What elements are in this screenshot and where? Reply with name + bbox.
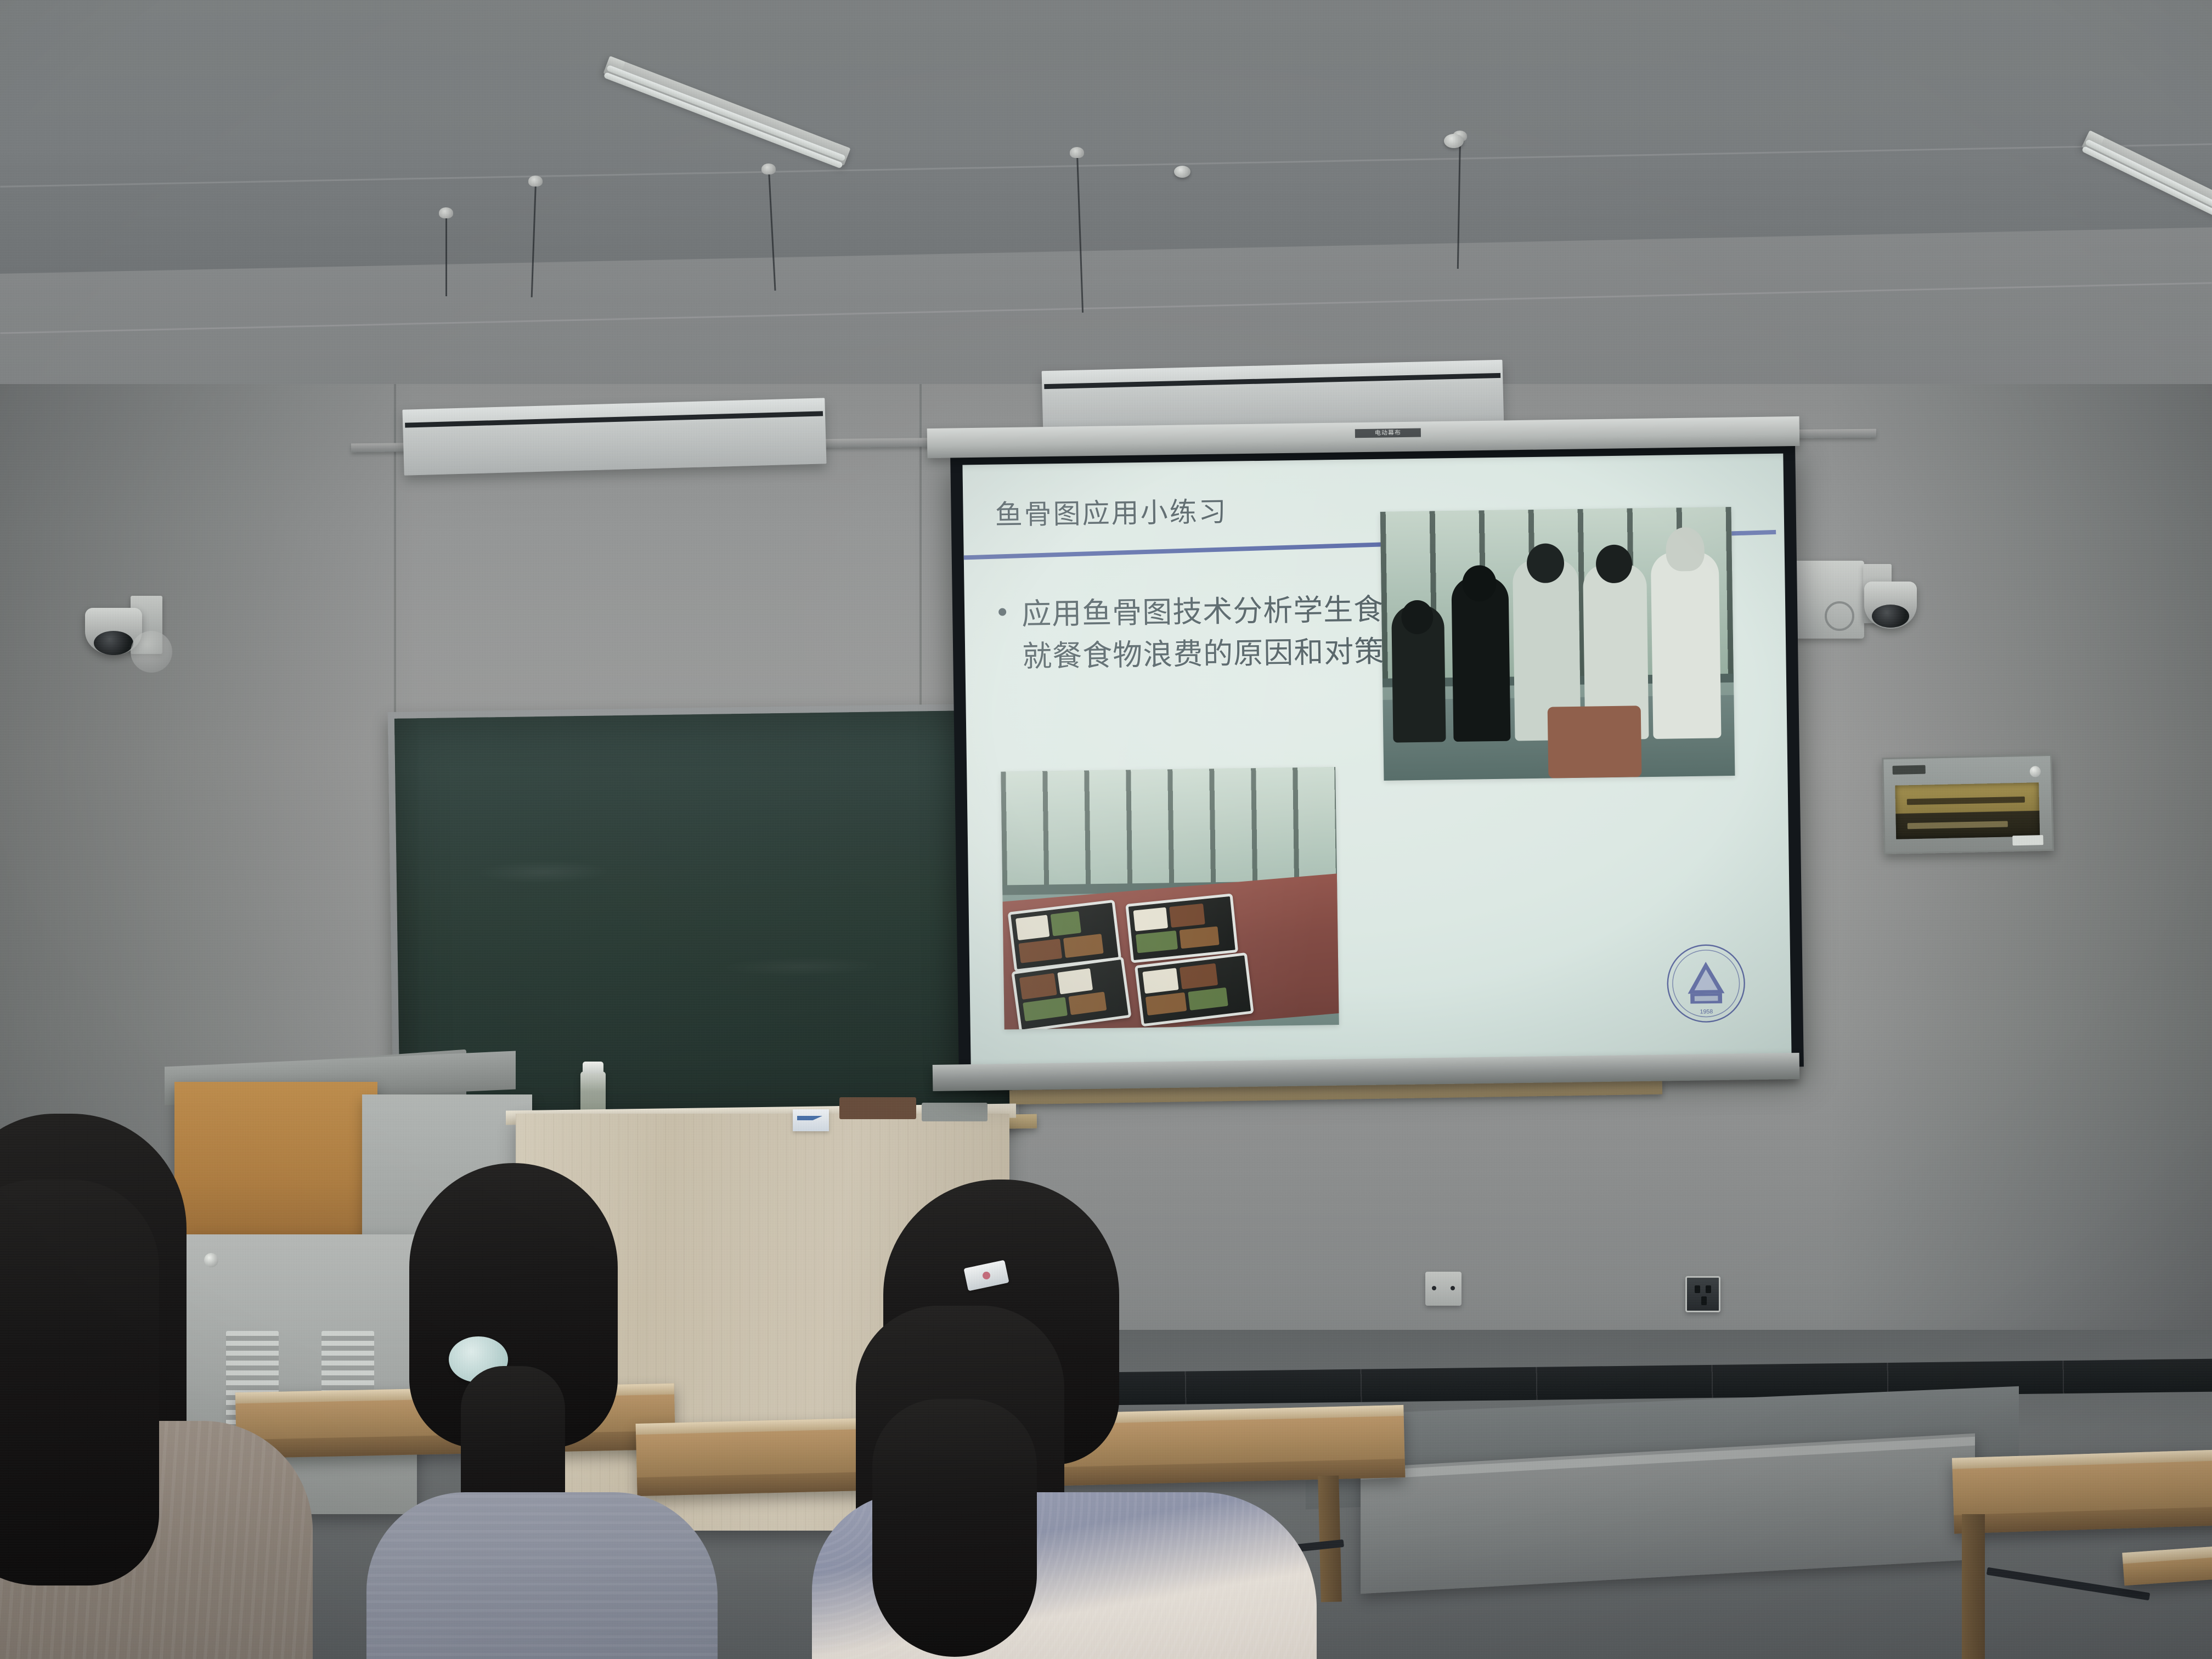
projection-screen-surface: 鱼骨图应用小练习 应用鱼骨图技术分析学生食堂就餐食物浪费的原因和对策 [962,454,1791,1066]
photo-person-head [1666,527,1705,572]
student-1 [0,1114,351,1659]
hanger-cap-2 [528,176,543,187]
valance-slot [405,411,823,427]
security-camera-right [1864,582,1917,629]
student-2 [379,1163,752,1659]
screw-hole [1451,1286,1455,1290]
bullet-dot-icon [998,608,1006,616]
valance-left [402,398,826,475]
slide-bullet-text: 应用鱼骨图技术分析学生食堂就餐食物浪费的原因和对策 [1022,588,1444,678]
wall-control-box-right [1793,561,1864,639]
light-hanger-wire-1 [445,214,447,296]
university-logo: 1958 [1664,941,1748,1026]
socket-slot [1706,1285,1711,1293]
notice-screw-icon [2030,766,2041,777]
projection-screen: 鱼骨图应用小练习 应用鱼骨图技术分析学生食堂就餐食物浪费的原因和对策 [950,441,1804,1078]
wall-notice-board [1882,754,2054,854]
slide-photo-trays [1001,767,1339,1029]
blue-card-on-podium[interactable] [793,1109,829,1131]
wall-outlet-blank[interactable] [1425,1272,1462,1306]
photo-counter-item [1548,706,1642,778]
notice-text-line [1907,797,2025,805]
photo-person [1651,552,1722,740]
valance-slot [1044,373,1500,389]
desk-far-right [1952,1447,2212,1533]
food-tray [1125,893,1238,963]
classroom-photo: 电动幕布 鱼骨图应用小练习 应用鱼骨图技术分析学生食堂就餐食物浪费的原因和对策 [0,0,2212,1659]
screw-hole [1432,1286,1436,1290]
wall-shadow-right [1828,384,2212,1426]
slide-photo-queue [1380,507,1735,781]
student-3 [790,1180,1350,1659]
slide-bullet-item: 应用鱼骨图技术分析学生食堂就餐食物浪费的原因和对策 [998,588,1444,678]
svg-text:1958: 1958 [1700,1008,1713,1015]
hanger-cap-4 [1070,147,1084,158]
wall-outlet-socket[interactable] [1685,1276,1720,1312]
box-knob-icon [1825,601,1854,631]
socket-slot [1701,1296,1707,1305]
slide: 鱼骨图应用小练习 应用鱼骨图技术分析学生食堂就餐食物浪费的原因和对策 [962,454,1791,1066]
notice-text-line [1908,821,2008,829]
smoke-detector-icon [1174,166,1190,178]
thermos-cap [583,1062,603,1074]
podium-clutter [922,1103,988,1121]
desk-leg [1962,1514,1985,1659]
ceiling-speaker-icon [1444,134,1464,148]
camera-dome-icon [94,631,133,655]
notice-tag [1893,765,1926,775]
wall-speaker-left [131,631,172,673]
hanger-cap-1 [439,207,453,218]
screen-housing-label: 电动幕布 [1355,428,1421,438]
student-1-hair-front [0,1180,159,1585]
notice-sublabel [2012,835,2043,845]
photo-person [1451,577,1510,742]
student-3-hair-front [872,1399,1037,1657]
notice-display [1895,782,2040,839]
student-2-fleece-texture [366,1492,718,1659]
podium-clutter [839,1097,916,1119]
socket-slot [1695,1285,1700,1293]
photo-window-bars [1001,767,1337,890]
hanger-cap-3 [761,163,776,174]
camera-dome-icon [1872,605,1909,628]
